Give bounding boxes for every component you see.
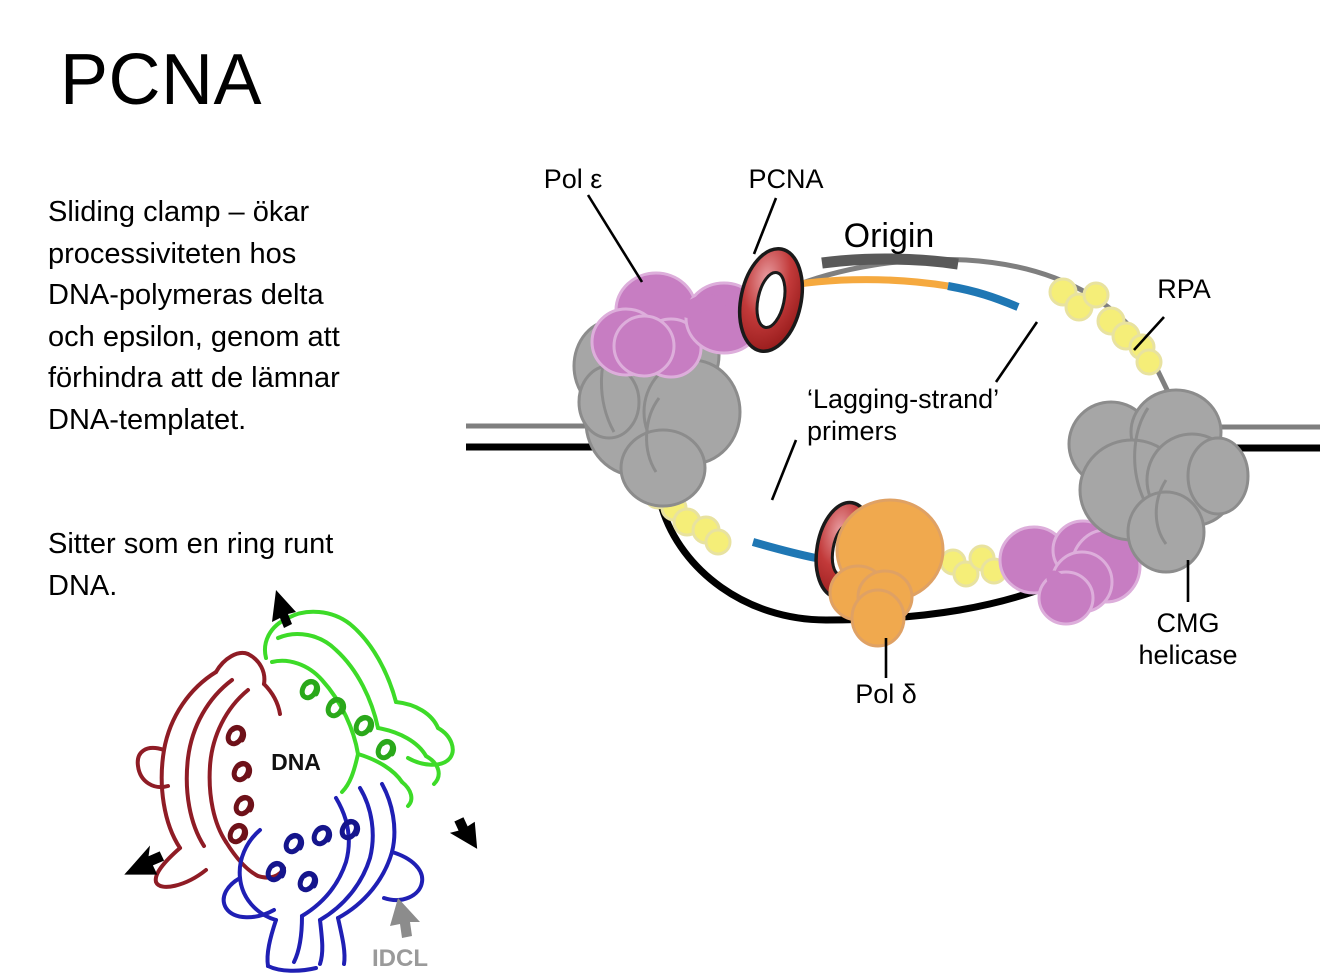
replication-bubble-diagram: Pol ε PCNA Origin RPA ‘Lagging-strand’ p…	[466, 150, 1320, 730]
leader-pol-epsilon	[588, 195, 642, 282]
pol-epsilon-left	[592, 273, 762, 377]
label-rpa: RPA	[1157, 274, 1211, 304]
leader-lagging-upper	[996, 322, 1037, 382]
label-pcna: PCNA	[748, 164, 823, 194]
label-origin: Origin	[844, 217, 935, 255]
pol-delta	[830, 500, 943, 646]
structure-dna-label: DNA	[271, 749, 321, 775]
leader-pcna	[754, 198, 776, 254]
leader-lagging-lower	[772, 440, 796, 500]
label-pol-delta: Pol δ	[855, 679, 917, 709]
label-lagging-primers-line2: primers	[807, 416, 897, 446]
rpa-beads-upper	[1050, 279, 1161, 374]
origin-segment	[822, 259, 958, 264]
label-cmg-helicase-line1: CMG	[1157, 608, 1220, 638]
label-lagging-primers-line1: ‘Lagging-strand’	[807, 384, 999, 414]
label-pol-epsilon: Pol ε	[544, 164, 603, 194]
pcna-trimer-structure-image: DNA IDCL	[120, 580, 510, 978]
structure-idcl-label: IDCL	[372, 945, 428, 972]
label-cmg-helicase-line2: helicase	[1138, 640, 1237, 670]
rpa-beads-lower-right	[941, 546, 1006, 586]
slide-canvas: PCNA Sliding clamp – ökar processivitete…	[0, 0, 1320, 978]
body-paragraph-1: Sliding clamp – ökar processiviteten hos…	[48, 192, 348, 441]
page-title: PCNA	[60, 43, 262, 119]
